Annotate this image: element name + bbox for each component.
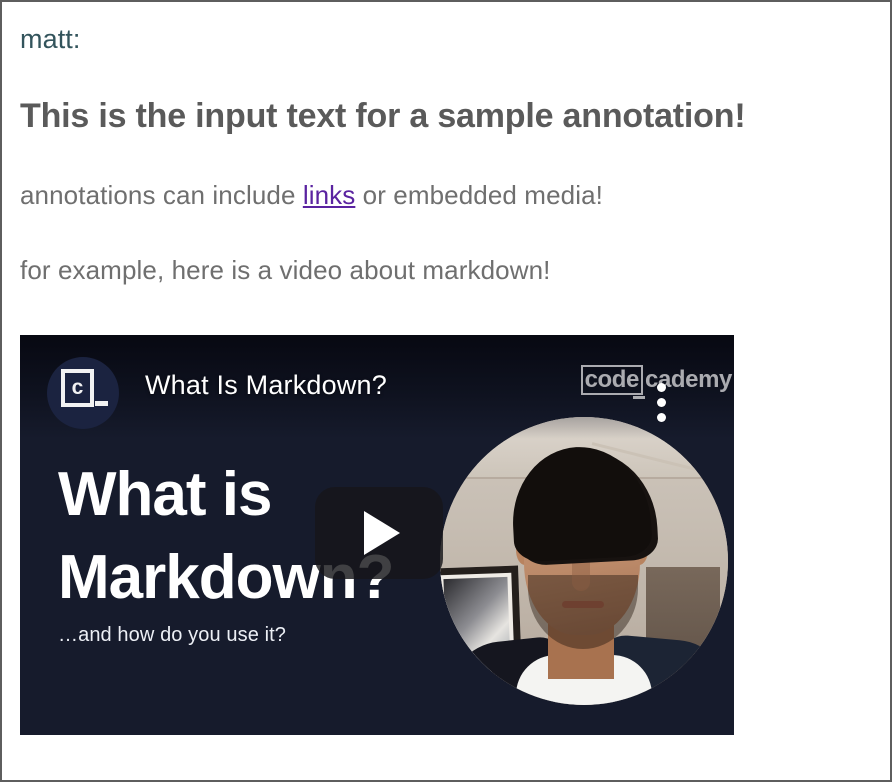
presenter-photo	[440, 417, 728, 705]
play-icon[interactable]	[315, 487, 443, 579]
kebab-dot-2	[657, 398, 666, 407]
watermark-underscore	[633, 396, 645, 399]
play-triangle	[364, 511, 400, 555]
annotation-paragraph-links: annotations can include links or embedde…	[20, 180, 872, 211]
paragraph-text-after: or embedded media!	[355, 180, 603, 210]
kebab-dot-1	[657, 383, 666, 392]
kebab-dot-3	[657, 413, 666, 422]
channel-avatar[interactable]: c	[47, 357, 119, 429]
codecademy-logo-underscore	[95, 401, 108, 406]
watermark-boxed-text: code	[581, 365, 643, 395]
codecademy-logo-icon: c	[61, 369, 94, 407]
kebab-menu-icon[interactable]	[657, 383, 666, 422]
annotation-paragraph-video: for example, here is a video about markd…	[20, 255, 872, 286]
slide-subtitle: …and how do you use it?	[58, 623, 286, 647]
links-hyperlink[interactable]: links	[303, 180, 356, 210]
paragraph-text-before: annotations can include	[20, 180, 303, 210]
embedded-video-player[interactable]: What is Markdown? …and how do you use it…	[20, 335, 734, 735]
annotation-author: matt:	[20, 24, 872, 55]
video-title[interactable]: What Is Markdown?	[145, 369, 387, 401]
annotation-card: matt: This is the input text for a sampl…	[0, 0, 892, 782]
photo-nose	[572, 557, 590, 591]
photo-mouth	[562, 601, 604, 608]
annotation-heading: This is the input text for a sample anno…	[20, 97, 872, 136]
